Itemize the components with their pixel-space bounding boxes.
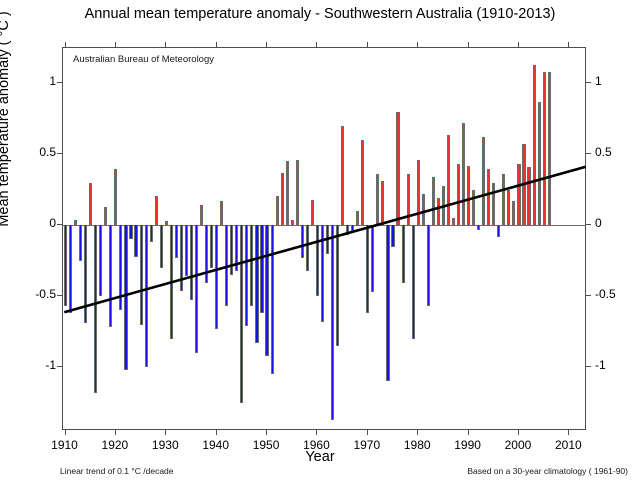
x-tick-1990	[468, 430, 469, 435]
x-tick-1920	[115, 430, 116, 435]
x-tick-label-1940: 1940	[202, 438, 229, 452]
x-tick-top-1980	[417, 42, 418, 47]
x-tick-2010	[568, 430, 569, 435]
y-tick-left-0.5	[57, 153, 62, 154]
x-tick-label-1960: 1960	[303, 438, 330, 452]
x-tick-1960	[316, 430, 317, 435]
y-tick-left--0.5	[57, 295, 62, 296]
y-tick-label-right-0.5: 0.5	[595, 145, 637, 159]
x-tick-top-1990	[468, 42, 469, 47]
x-tick-top-1920	[115, 42, 116, 47]
trend-line	[63, 48, 585, 429]
x-tick-top-1910	[65, 42, 66, 47]
x-tick-top-2010	[568, 42, 569, 47]
y-tick-left-0	[57, 224, 62, 225]
x-tick-label-2010: 2010	[555, 438, 582, 452]
y-tick-right--1	[586, 366, 591, 367]
plot-area: Australian Bureau of Meteorology	[62, 47, 586, 430]
x-tick-1940	[216, 430, 217, 435]
y-tick-label-left-0.5: 0.5	[14, 145, 56, 159]
x-tick-label-1910: 1910	[51, 438, 78, 452]
y-tick-label-right-0: 0	[595, 216, 637, 230]
y-tick-label-left-0: 0	[14, 216, 56, 230]
x-tick-label-2000: 2000	[505, 438, 532, 452]
chart-title: Annual mean temperature anomaly - Southw…	[0, 6, 640, 22]
x-tick-top-2000	[518, 42, 519, 47]
x-tick-top-1970	[367, 42, 368, 47]
y-tick-right--0.5	[586, 295, 591, 296]
x-tick-label-1950: 1950	[253, 438, 280, 452]
footnote-left: Linear trend of 0.1 °C /decade	[60, 466, 174, 476]
x-tick-label-1920: 1920	[102, 438, 129, 452]
x-tick-1980	[417, 430, 418, 435]
x-tick-label-1970: 1970	[353, 438, 380, 452]
x-tick-label-1990: 1990	[454, 438, 481, 452]
y-tick-right-0.5	[586, 153, 591, 154]
y-tick-right-1	[586, 82, 591, 83]
x-tick-top-1950	[266, 42, 267, 47]
y-tick-label-left-1: 1	[14, 74, 56, 88]
x-tick-1970	[367, 430, 368, 435]
x-tick-top-1940	[216, 42, 217, 47]
x-tick-top-1960	[316, 42, 317, 47]
x-tick-1910	[65, 430, 66, 435]
y-axis-label: Mean temperature anomaly ( °C )	[0, 0, 12, 239]
y-tick-label-left--1: -1	[14, 358, 56, 372]
x-tick-top-1930	[165, 42, 166, 47]
chart-root: Annual mean temperature anomaly - Southw…	[0, 0, 640, 480]
y-tick-left-1	[57, 82, 62, 83]
y-tick-label-left--0.5: -0.5	[14, 287, 56, 301]
y-tick-left--1	[57, 366, 62, 367]
footnote-right: Based on a 30-year climatology ( 1961-90…	[467, 466, 628, 476]
y-tick-label-right--1: -1	[595, 358, 637, 372]
y-tick-right-0	[586, 224, 591, 225]
x-tick-label-1980: 1980	[404, 438, 431, 452]
x-tick-label-1930: 1930	[152, 438, 179, 452]
x-tick-2000	[518, 430, 519, 435]
x-tick-1950	[266, 430, 267, 435]
x-tick-1930	[165, 430, 166, 435]
y-tick-label-right-1: 1	[595, 74, 637, 88]
y-tick-label-right--0.5: -0.5	[595, 287, 637, 301]
